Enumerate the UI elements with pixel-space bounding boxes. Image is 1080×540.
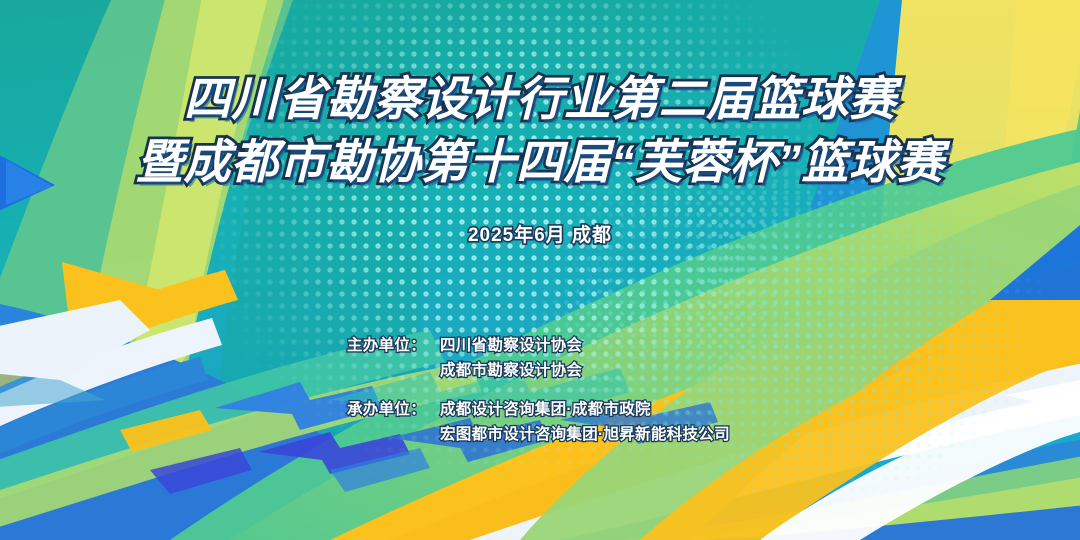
co-organizer-label: 承办单位：: [347, 397, 440, 419]
organizer-label: 主办单位：: [347, 333, 440, 355]
credits-section: 主办单位： 四川省勘察设计协会 成都市勘察设计协会 承办单位： 成都设计咨询集团…: [347, 333, 907, 461]
co-organizer-item: 宏图都市设计咨询集团·旭昇新能科技公司: [440, 422, 730, 444]
co-organizer-item: 成都设计咨询集团·成都市政院: [440, 397, 730, 419]
organizer-block: 主办单位： 四川省勘察设计协会 成都市勘察设计协会: [347, 333, 907, 380]
co-organizer-list: 成都设计咨询集团·成都市政院 宏图都市设计咨询集团·旭昇新能科技公司: [440, 397, 730, 444]
event-date-location: 2025年6月 成都: [0, 220, 1080, 247]
title-line-1: 四川省勘察设计行业第二届篮球赛: [0, 72, 1080, 126]
title-line-2: 暨成都市勘协第十四届“芙蓉杯”篮球赛: [0, 135, 1080, 189]
organizer-list: 四川省勘察设计协会 成都市勘察设计协会: [440, 333, 582, 380]
organizer-item: 成都市勘察设计协会: [440, 358, 582, 380]
organizer-item: 四川省勘察设计协会: [440, 333, 582, 355]
page-title: 四川省勘察设计行业第二届篮球赛 暨成都市勘协第十四届“芙蓉杯”篮球赛: [0, 72, 1080, 188]
event-poster: 四川省勘察设计行业第二届篮球赛 暨成都市勘协第十四届“芙蓉杯”篮球赛 2025年…: [0, 0, 1080, 540]
co-organizer-block: 承办单位： 成都设计咨询集团·成都市政院 宏图都市设计咨询集团·旭昇新能科技公司: [347, 397, 907, 444]
poster-text-content: 四川省勘察设计行业第二届篮球赛 暨成都市勘协第十四届“芙蓉杯”篮球赛 2025年…: [0, 0, 1080, 540]
